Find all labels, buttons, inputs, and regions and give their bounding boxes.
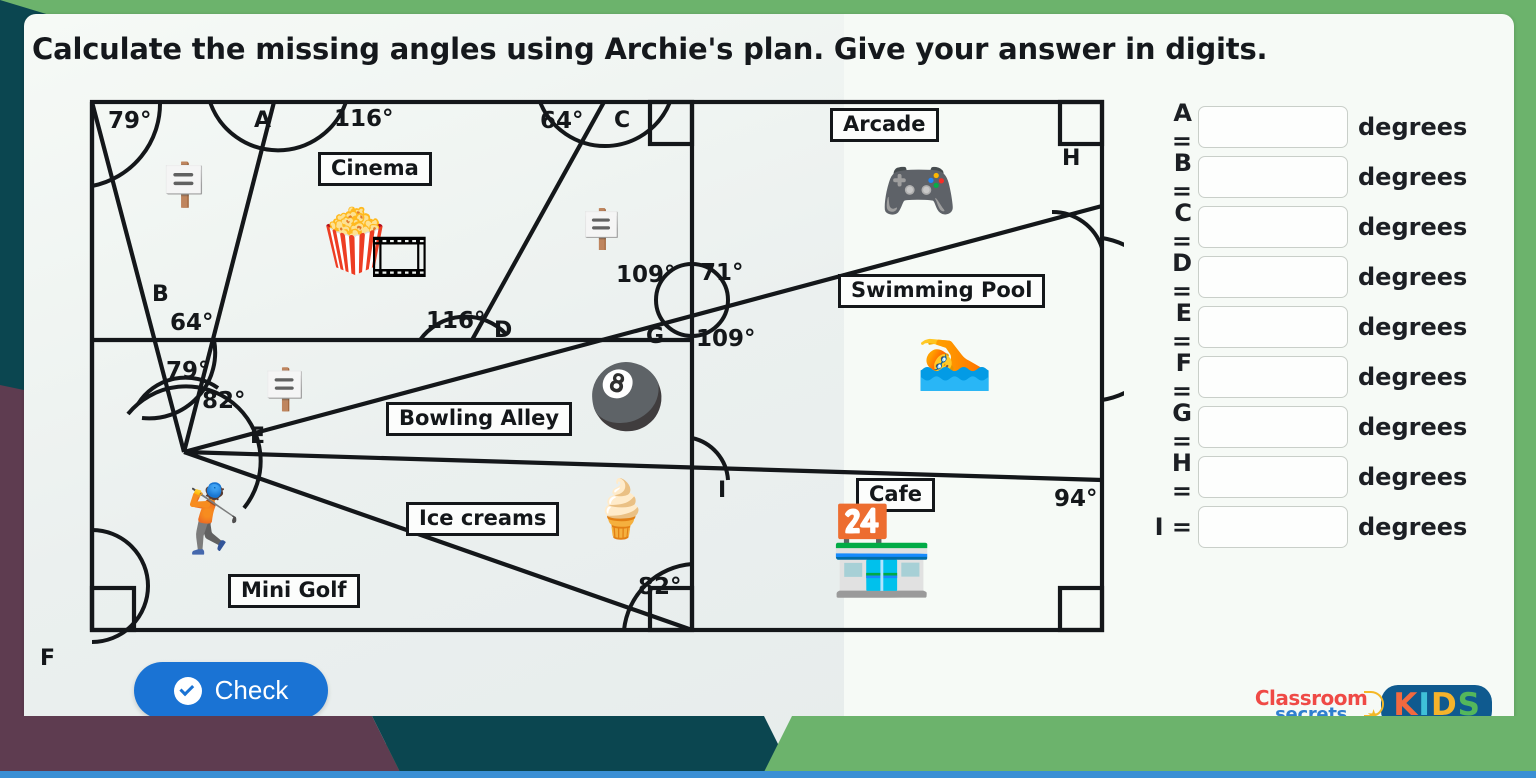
bench-icon-3: 🪧 <box>260 370 310 410</box>
answer-unit-i: degrees <box>1358 513 1467 541</box>
bench-icon: 🪧 <box>158 164 210 206</box>
angle-letter-h: H <box>1062 148 1080 170</box>
answer-unit-g: degrees <box>1358 413 1467 441</box>
angle-letter-b: B <box>152 284 169 306</box>
answer-input-g[interactable] <box>1198 406 1348 448</box>
venue-label-mini-golf: Mini Golf <box>228 574 360 608</box>
angle-value-79-topleft: 79° <box>108 110 152 133</box>
answer-row-e: E = degrees <box>1152 302 1512 352</box>
footer-strip-purple <box>0 716 400 772</box>
angle-value-64-left: 64° <box>170 312 214 335</box>
answer-label-c: C = <box>1152 199 1198 255</box>
answer-unit-a: degrees <box>1358 113 1467 141</box>
game-controller-icon: 🎮 <box>880 160 957 222</box>
answer-row-d: D = degrees <box>1152 252 1512 302</box>
angle-value-109-lower: 109° <box>696 328 756 351</box>
archies-plan-diagram: Cinema Arcade Swimming Pool Bowling Alle… <box>68 88 1124 644</box>
angle-letter-i: I <box>718 480 726 502</box>
answer-unit-b: degrees <box>1358 163 1467 191</box>
answer-row-a: A = degrees <box>1152 102 1512 152</box>
checkmark-icon <box>180 681 195 696</box>
answer-unit-d: degrees <box>1358 263 1467 291</box>
footer-strip-teal <box>372 716 792 772</box>
answer-unit-c: degrees <box>1358 213 1467 241</box>
check-button[interactable]: Check <box>134 662 328 719</box>
answer-label-h: H = <box>1152 449 1198 505</box>
swimmer-icon: 🏊 <box>916 326 993 388</box>
answer-input-c[interactable] <box>1198 206 1348 248</box>
worksheet-card: Calculate the missing angles using Archi… <box>24 14 1514 744</box>
answer-unit-h: degrees <box>1358 463 1467 491</box>
angle-letter-c: C <box>614 110 630 132</box>
angle-value-79-left: 79° <box>166 360 210 383</box>
answer-label-b: B = <box>1152 149 1198 205</box>
answer-row-g: G = degrees <box>1152 402 1512 452</box>
answer-input-i[interactable] <box>1198 506 1348 548</box>
answer-label-f: F = <box>1152 349 1198 405</box>
angle-value-64-top: 64° <box>540 110 584 133</box>
cafe-building-icon: 🏪 <box>828 508 935 594</box>
footer-strip-green <box>764 716 1536 772</box>
answer-row-c: C = degrees <box>1152 202 1512 252</box>
angle-letter-a: A <box>254 110 271 132</box>
answer-row-i: I = degrees <box>1152 502 1512 552</box>
ice-cream-icon: 🍦 <box>586 482 656 538</box>
angle-value-116-top: 116° <box>334 108 394 131</box>
question-text: Calculate the missing angles using Archi… <box>32 32 1432 66</box>
venue-label-ice-creams: Ice creams <box>406 502 559 536</box>
answer-unit-f: degrees <box>1358 363 1467 391</box>
angle-value-71: 71° <box>700 262 744 285</box>
venue-label-cinema: Cinema <box>318 152 432 186</box>
answer-input-b[interactable] <box>1198 156 1348 198</box>
angle-value-82-bottom: 82° <box>638 576 682 599</box>
venue-label-bowling-alley: Bowling Alley <box>386 402 572 436</box>
footer-color-strip <box>0 716 1536 772</box>
answer-row-h: H = degrees <box>1152 452 1512 502</box>
angle-value-116-mid: 116° <box>426 310 486 333</box>
venue-label-arcade: Arcade <box>830 108 939 142</box>
answer-input-h[interactable] <box>1198 456 1348 498</box>
answer-label-g: G = <box>1152 399 1198 455</box>
check-circle-icon <box>174 677 202 705</box>
angle-letter-e: E <box>250 426 265 448</box>
angle-value-94: 94° <box>1054 488 1098 511</box>
answer-input-e[interactable] <box>1198 306 1348 348</box>
answer-unit-e: degrees <box>1358 313 1467 341</box>
angle-letter-f: F <box>40 648 55 670</box>
answer-list: A = degrees B = degrees C = degrees D = … <box>1152 102 1512 552</box>
bench-icon-2: 🪧 <box>578 210 625 248</box>
angle-value-82-left: 82° <box>202 390 246 413</box>
answer-row-f: F = degrees <box>1152 352 1512 402</box>
angle-letter-d: D <box>494 320 512 342</box>
golf-club-icon: 🏌 <box>172 486 254 552</box>
venue-label-swimming-pool: Swimming Pool <box>838 274 1045 308</box>
answer-label-i: I = <box>1152 513 1198 541</box>
film-reel-icon: 🎞 <box>364 230 435 286</box>
angle-letter-g: G <box>646 326 664 348</box>
check-button-label: Check <box>215 675 289 706</box>
answer-input-f[interactable] <box>1198 356 1348 398</box>
bowling-ball-icon: 🎱 <box>588 366 665 428</box>
answer-input-a[interactable] <box>1198 106 1348 148</box>
answer-input-d[interactable] <box>1198 256 1348 298</box>
answer-label-a: A = <box>1152 99 1198 155</box>
footer-blue-line <box>0 771 1536 778</box>
answer-row-b: B = degrees <box>1152 152 1512 202</box>
answer-label-e: E = <box>1152 299 1198 355</box>
angle-value-109-upper: 109° <box>616 264 676 287</box>
answer-label-d: D = <box>1152 249 1198 305</box>
